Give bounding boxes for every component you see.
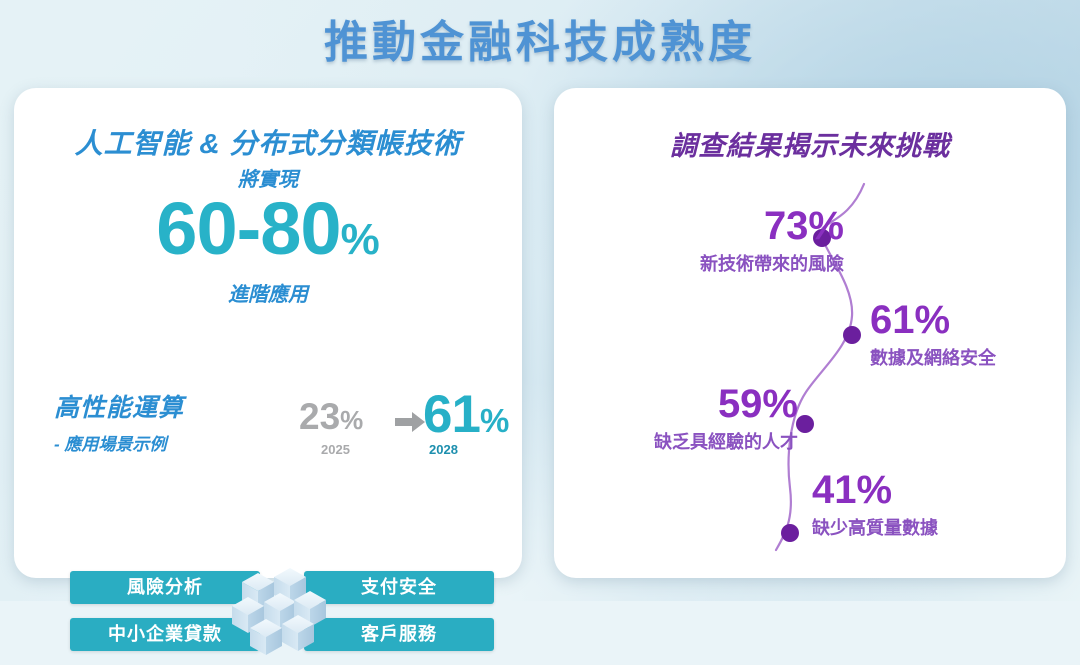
stat-to-year: 2028 (429, 442, 458, 457)
challenge-label: 缺乏具經驗的人才 (566, 433, 798, 451)
from-percent: % (340, 405, 363, 435)
stat-from-value: 23% (299, 398, 363, 435)
curve-dot-2 (843, 326, 861, 344)
challenge-item-3: 59% 缺乏具經驗的人才 (566, 384, 798, 451)
challenge-value: 61% (870, 300, 1060, 340)
from-number: 23 (299, 396, 340, 437)
right-panel-card: 調查結果揭示未來挑戰 73% 新技術帶來的風險 61% 數據及網絡安全 59% … (554, 88, 1066, 578)
stat-from-year: 2025 (321, 442, 350, 457)
challenge-value: 41% (812, 470, 1012, 510)
stat-to-value: 61% (423, 388, 508, 441)
challenge-item-4: 41% 缺少高質量數據 (812, 470, 1012, 537)
curve-dot-4 (781, 524, 799, 542)
slide-canvas: 推動金融科技成熟度 人工智能 & 分布式分類帳技術 將實現 60-80% 進階應… (0, 0, 1080, 601)
section-title: 高性能運算 (54, 388, 184, 424)
cube-cluster-icon (224, 565, 340, 660)
challenge-item-1: 73% 新技術帶來的風險 (594, 206, 844, 273)
left-card-heading: 人工智能 & 分布式分類帳技術 (14, 122, 522, 162)
big-stat-value: 60-80 (156, 187, 340, 270)
challenge-label: 缺少高質量數據 (812, 519, 1012, 537)
arrow-right-icon (395, 412, 425, 437)
to-number: 61 (423, 385, 480, 444)
page-title: 推動金融科技成熟度 (0, 6, 1080, 70)
challenge-label: 新技術帶來的風險 (594, 255, 844, 273)
use-case-tag-list: 風險分析 支付安全 中小企業貸款 客戶服務 (70, 571, 494, 653)
left-card-footnote: 進階應用 (14, 278, 522, 307)
challenge-value: 59% (566, 384, 798, 424)
growth-stat-group: 23% 2025 61% 2028 (299, 398, 504, 468)
section-subtitle: - 應用場景示例 (54, 430, 166, 455)
challenge-value: 73% (594, 206, 844, 246)
curve-dot-3 (796, 415, 814, 433)
left-card-big-stat: 60-80% (14, 192, 522, 266)
to-percent: % (480, 402, 508, 439)
left-panel-card: 人工智能 & 分布式分類帳技術 將實現 60-80% 進階應用 高性能運算 - … (14, 88, 522, 578)
challenge-label: 數據及網絡安全 (870, 349, 1060, 367)
big-stat-percent: % (341, 215, 380, 264)
challenge-item-2: 61% 數據及網絡安全 (870, 300, 1060, 367)
